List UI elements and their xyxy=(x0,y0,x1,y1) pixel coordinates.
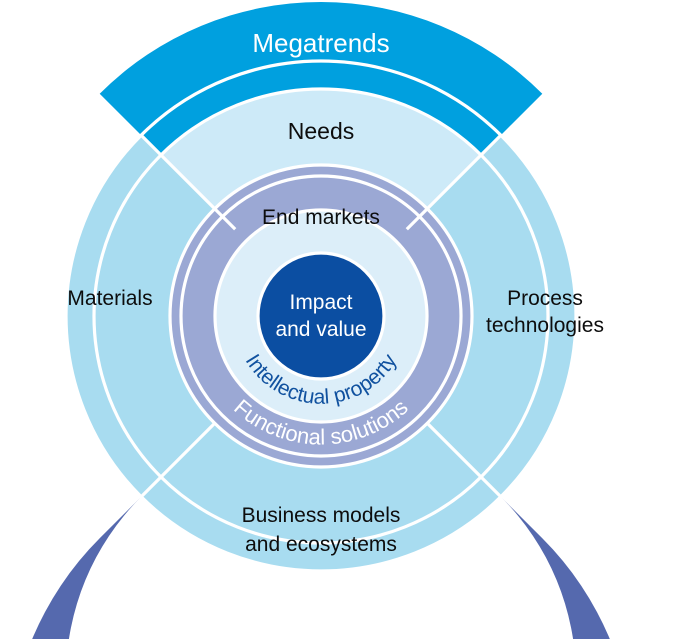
label-needs: Needs xyxy=(288,118,354,144)
label-open-innovation-text: Open innovation xyxy=(244,573,398,606)
label-end-markets: End markets xyxy=(262,206,380,229)
innovation-circle-diagram: Megatrends Needs End markets Materials P… xyxy=(0,0,673,639)
label-business-models-line1: Business models xyxy=(242,504,401,527)
label-business-models-line2: and ecosystems xyxy=(245,533,397,556)
circle-diagram-svg: Megatrends Needs End markets Materials P… xyxy=(0,0,673,639)
label-core-line1: Impact xyxy=(289,291,352,314)
label-open-innovation: Open innovation xyxy=(244,573,398,606)
label-materials: Materials xyxy=(67,287,152,310)
label-megatrends: Megatrends xyxy=(252,28,389,58)
label-process-technologies-line2: technologies xyxy=(486,314,604,337)
label-process-technologies-line1: Process xyxy=(507,287,583,310)
label-core-line2: and value xyxy=(275,318,366,341)
